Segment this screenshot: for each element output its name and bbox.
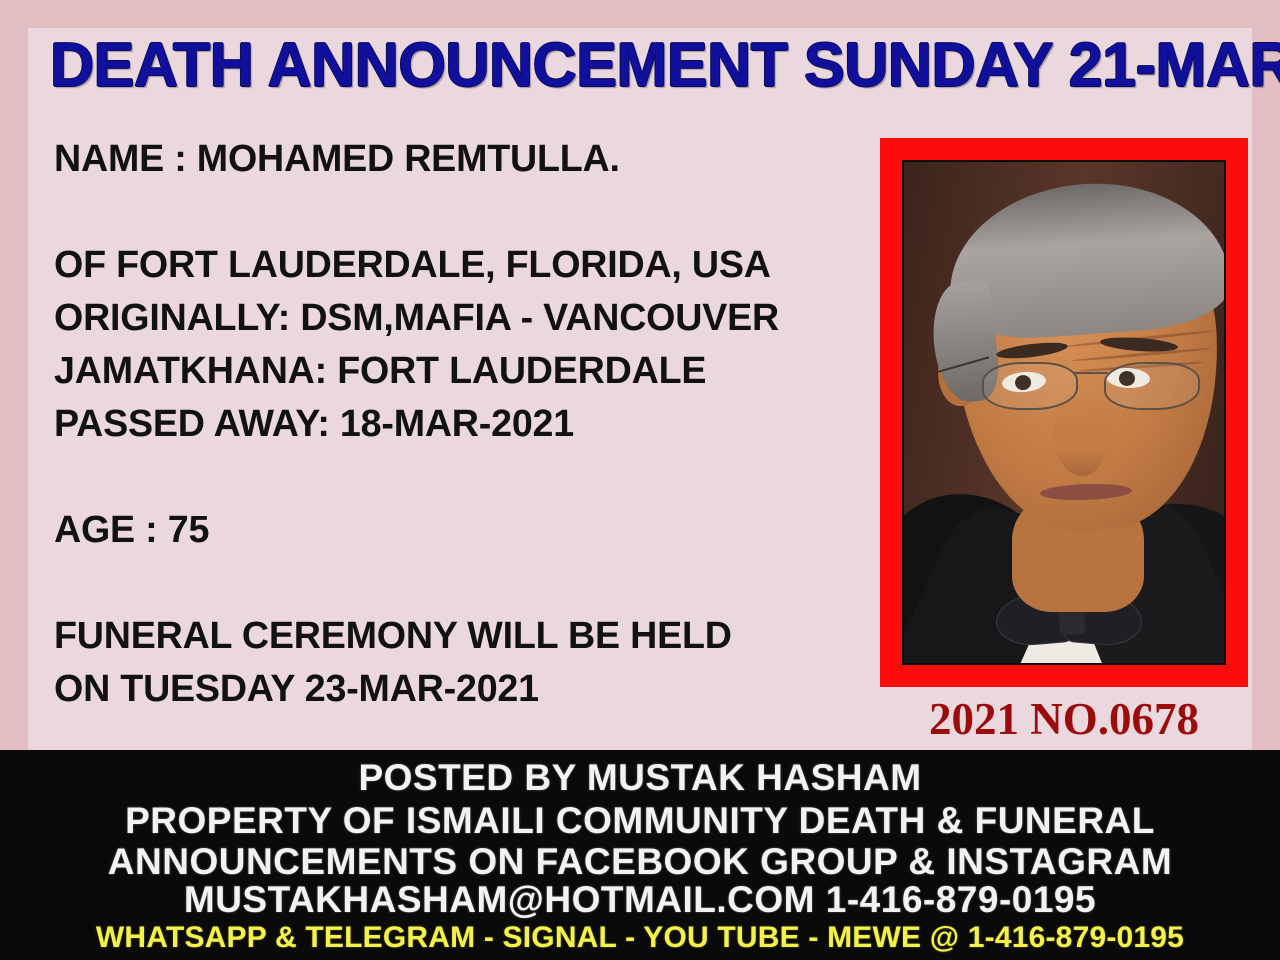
glasses-bridge xyxy=(1074,372,1108,374)
page-title: DEATH ANNOUNCEMENT SUNDAY 21-MAR-2021 xyxy=(50,25,1280,107)
detail-line-originally: ORIGINALLY: DSM,MAFIA - VANCOUVER xyxy=(54,292,846,345)
detail-line-passed-away: PASSED AWAY: 18-MAR-2021 xyxy=(54,398,846,451)
deceased-details-block: NAME : MOHAMED REMTULLA. OF FORT LAUDERD… xyxy=(54,133,854,716)
detail-line-funeral-1: FUNERAL CEREMONY WILL BE HELD xyxy=(54,610,846,663)
lens-right xyxy=(1104,362,1200,410)
eyeglasses xyxy=(982,358,1200,414)
death-announcement-poster: DEATH ANNOUNCEMENT SUNDAY 21-MAR-2021 NA… xyxy=(0,0,1280,960)
portrait-photo xyxy=(902,160,1226,665)
footer-line-announcements: ANNOUNCEMENTS ON FACEBOOK GROUP & INSTAG… xyxy=(0,841,1280,883)
detail-line-name: NAME : MOHAMED REMTULLA. xyxy=(54,133,846,186)
footer-line-property-of: PROPERTY OF ISMAILI COMMUNITY DEATH & FU… xyxy=(0,800,1280,842)
detail-line-spacer-2 xyxy=(54,451,846,504)
detail-line-funeral-2: ON TUESDAY 23-MAR-2021 xyxy=(54,663,846,716)
detail-line-spacer-1 xyxy=(54,186,846,239)
detail-line-spacer-3 xyxy=(54,557,846,610)
footer-line-posted-by: POSTED BY MUSTAK HASHAM xyxy=(0,757,1280,799)
detail-line-age: AGE : 75 xyxy=(54,504,846,557)
detail-line-jamatkhana: JAMATKHANA: FORT LAUDERDALE xyxy=(54,345,846,398)
lens-left xyxy=(982,362,1078,410)
detail-line-location: OF FORT LAUDERDALE, FLORIDA, USA xyxy=(54,239,846,292)
footer-line-social: WHATSAPP & TELEGRAM - SIGNAL - YOU TUBE … xyxy=(0,921,1280,955)
footer-line-contact: MUSTAKHASHAM@HOTMAIL.COM 1-416-879-0195 xyxy=(0,879,1280,921)
reference-number: 2021 NO.0678 xyxy=(880,694,1248,744)
portrait-photo-frame xyxy=(880,138,1248,687)
title-bar: DEATH ANNOUNCEMENT SUNDAY 21-MAR-2021 xyxy=(28,28,1252,110)
